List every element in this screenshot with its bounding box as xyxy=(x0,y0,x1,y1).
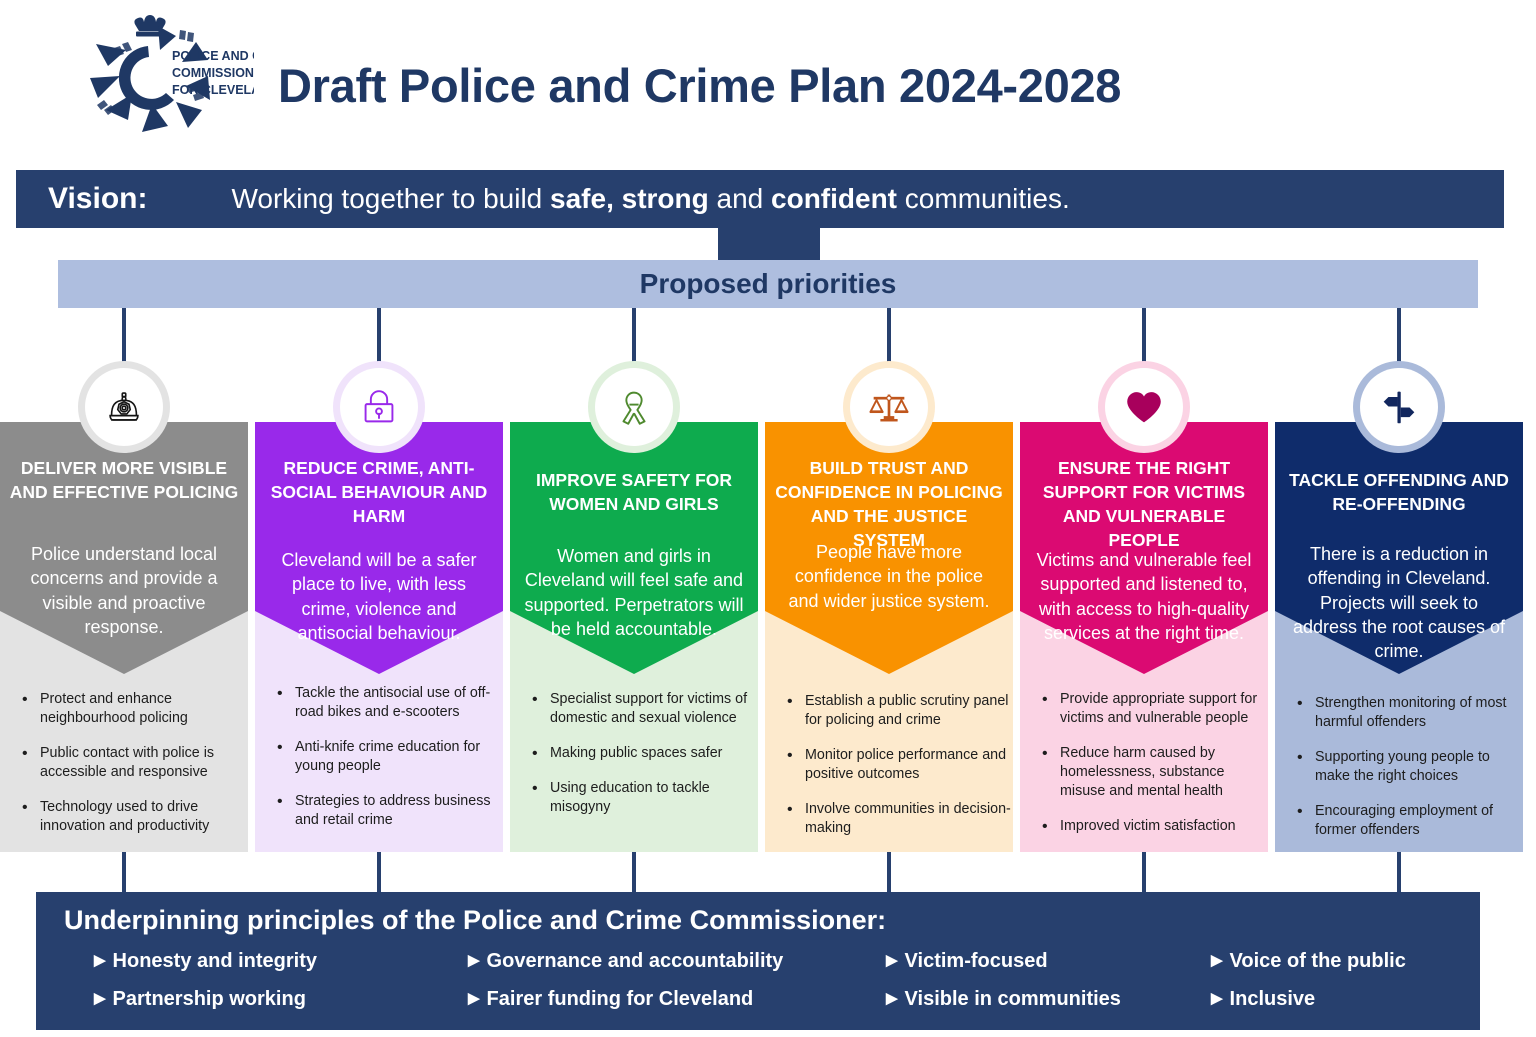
principle-item: ▶Inclusive xyxy=(1211,988,1315,1011)
logo-line-3: FOR CLEVELAND xyxy=(172,83,254,97)
principles-connector-line xyxy=(1142,852,1146,892)
list-item: Monitor police performance and positive … xyxy=(781,746,1013,784)
list-item: Supporting young people to make the righ… xyxy=(1291,748,1523,786)
principle-label: Partnership working xyxy=(113,988,306,1010)
padlock-icon-badge xyxy=(340,368,418,446)
scales-of-justice-icon xyxy=(866,384,912,430)
list-item: Encouraging employment of former offende… xyxy=(1291,802,1523,840)
column-bullet-list: Strengthen monitoring of most harmful of… xyxy=(1291,694,1523,856)
priority-connector-line xyxy=(632,308,636,374)
principle-item: ▶Honesty and integrity xyxy=(94,950,317,973)
list-item: Using education to tackle misogyny xyxy=(526,779,758,817)
principle-label: Voice of the public xyxy=(1230,950,1406,972)
priority-connector-line xyxy=(1142,308,1146,374)
column-heading: ENSURE THE RIGHT SUPPORT FOR VICTIMS AND… xyxy=(1020,456,1268,553)
list-item: Involve communities in decision-making xyxy=(781,800,1013,838)
list-item: Anti-knife crime education for young peo… xyxy=(271,738,503,776)
signpost-icon xyxy=(1376,384,1422,430)
triangle-bullet-icon: ▶ xyxy=(886,951,898,969)
list-item: Making public spaces safer xyxy=(526,744,758,763)
principle-label: Inclusive xyxy=(1230,988,1316,1010)
page-header: POLICE AND CRIME COMMISSIONER FOR CLEVEL… xyxy=(0,0,1536,165)
list-item: Specialist support for victims of domest… xyxy=(526,690,758,728)
vision-text-part1: Working together to build xyxy=(231,183,550,214)
column-bullet-list: Establish a public scrutiny panel for po… xyxy=(781,692,1013,854)
triangle-bullet-icon: ▶ xyxy=(886,989,898,1007)
column-description: Police understand local concerns and pro… xyxy=(0,542,248,639)
principle-label: Visible in communities xyxy=(905,988,1121,1010)
triangle-bullet-icon: ▶ xyxy=(468,989,480,1007)
list-item: Protect and enhance neighbourhood polici… xyxy=(16,690,248,728)
vision-bold-2: confident xyxy=(771,183,897,214)
triangle-bullet-icon: ▶ xyxy=(468,951,480,969)
column-heading: BUILD TRUST AND CONFIDENCE IN POLICING A… xyxy=(765,456,1013,553)
list-item: Improved victim satisfaction xyxy=(1036,817,1268,836)
column-bullet-list: Tackle the antisocial use of off-road bi… xyxy=(271,684,503,846)
priority-connector-line xyxy=(377,308,381,374)
principle-item: ▶Victim-focused xyxy=(886,950,1048,973)
vision-label: Vision: xyxy=(48,182,147,216)
principles-title: Underpinning principles of the Police an… xyxy=(64,905,886,936)
infographic-root: POLICE AND CRIME COMMISSIONER FOR CLEVEL… xyxy=(0,0,1536,1037)
list-item: Strengthen monitoring of most harmful of… xyxy=(1291,694,1523,732)
column-bullet-list: Provide appropriate support for victims … xyxy=(1036,690,1268,852)
principles-connector-line xyxy=(122,852,126,892)
list-item: Technology used to drive innovation and … xyxy=(16,798,248,836)
vision-text-part3: communities. xyxy=(897,183,1070,214)
principles-connector-line xyxy=(887,852,891,892)
principle-item: ▶Fairer funding for Cleveland xyxy=(468,988,753,1011)
list-item: Tackle the antisocial use of off-road bi… xyxy=(271,684,503,722)
column-bullet-list: Protect and enhance neighbourhood polici… xyxy=(16,690,248,852)
list-item: Provide appropriate support for victims … xyxy=(1036,690,1268,728)
list-item: Strategies to address business and retai… xyxy=(271,792,503,830)
cleveland-police-crest-logo: POLICE AND CRIME COMMISSIONER FOR CLEVEL… xyxy=(84,12,254,142)
principles-connector-line xyxy=(1397,852,1401,892)
proposed-priorities-label: Proposed priorities xyxy=(640,268,897,300)
logo-line-2: COMMISSIONER xyxy=(172,66,254,80)
vision-bold-1: safe, strong xyxy=(550,183,709,214)
column-description: Women and girls in Cleveland will feel s… xyxy=(510,544,758,641)
scales-of-justice-icon-badge xyxy=(850,368,928,446)
priority-connector-line xyxy=(887,308,891,374)
vision-to-priorities-connector xyxy=(718,228,820,260)
principle-item: ▶Voice of the public xyxy=(1211,950,1406,973)
vision-text-part2: and xyxy=(709,183,771,214)
crest-icon: POLICE AND CRIME COMMISSIONER FOR CLEVEL… xyxy=(84,12,254,142)
list-item: Reduce harm caused by homelessness, subs… xyxy=(1036,744,1268,801)
proposed-priorities-bar: Proposed priorities xyxy=(58,260,1478,308)
triangle-bullet-icon: ▶ xyxy=(94,989,106,1007)
column-heading: DELIVER MORE VISIBLE AND EFFECTIVE POLIC… xyxy=(0,456,248,504)
column-heading: REDUCE CRIME, ANTI-SOCIAL BEHAVIOUR AND … xyxy=(255,456,503,528)
principle-item: ▶Visible in communities xyxy=(886,988,1121,1011)
principle-item: ▶Governance and accountability xyxy=(468,950,783,973)
list-item: Establish a public scrutiny panel for po… xyxy=(781,692,1013,730)
signpost-icon-badge xyxy=(1360,368,1438,446)
column-description: People have more confidence in the polic… xyxy=(765,540,1013,613)
principle-label: Fairer funding for Cleveland xyxy=(487,988,754,1010)
column-bullet-list: Specialist support for victims of domest… xyxy=(526,690,758,833)
vision-statement: Working together to build safe, strong a… xyxy=(231,183,1069,215)
column-heading: IMPROVE SAFETY FOR WOMEN AND GIRLS xyxy=(510,468,758,516)
triangle-bullet-icon: ▶ xyxy=(1211,989,1223,1007)
principle-label: Governance and accountability xyxy=(487,950,784,972)
principles-connector-line xyxy=(632,852,636,892)
priority-connector-line xyxy=(1397,308,1401,374)
police-helmet-icon xyxy=(101,384,147,430)
padlock-icon xyxy=(356,384,402,430)
principle-label: Honesty and integrity xyxy=(113,950,317,972)
logo-line-1: POLICE AND CRIME xyxy=(172,49,254,63)
column-description: Victims and vulnerable feel supported an… xyxy=(1020,548,1268,645)
police-helmet-icon-badge xyxy=(85,368,163,446)
column-description: Cleveland will be a safer place to live,… xyxy=(255,548,503,645)
awareness-ribbon-icon-badge xyxy=(595,368,673,446)
principles-connector-line xyxy=(377,852,381,892)
awareness-ribbon-icon xyxy=(611,384,657,430)
principle-label: Victim-focused xyxy=(905,950,1048,972)
heart-icon-badge xyxy=(1105,368,1183,446)
list-item: Public contact with police is accessible… xyxy=(16,744,248,782)
underpinning-principles-panel: Underpinning principles of the Police an… xyxy=(36,892,1480,1030)
principle-item: ▶Partnership working xyxy=(94,988,306,1011)
column-description: There is a reduction in offending in Cle… xyxy=(1275,542,1523,663)
priority-connector-line xyxy=(122,308,126,374)
column-heading: TACKLE OFFENDING AND RE-OFFENDING xyxy=(1275,468,1523,516)
heart-icon xyxy=(1121,384,1167,430)
vision-banner: Vision: Working together to build safe, … xyxy=(16,170,1504,228)
page-title: Draft Police and Crime Plan 2024-2028 xyxy=(278,58,1121,113)
triangle-bullet-icon: ▶ xyxy=(94,951,106,969)
triangle-bullet-icon: ▶ xyxy=(1211,951,1223,969)
